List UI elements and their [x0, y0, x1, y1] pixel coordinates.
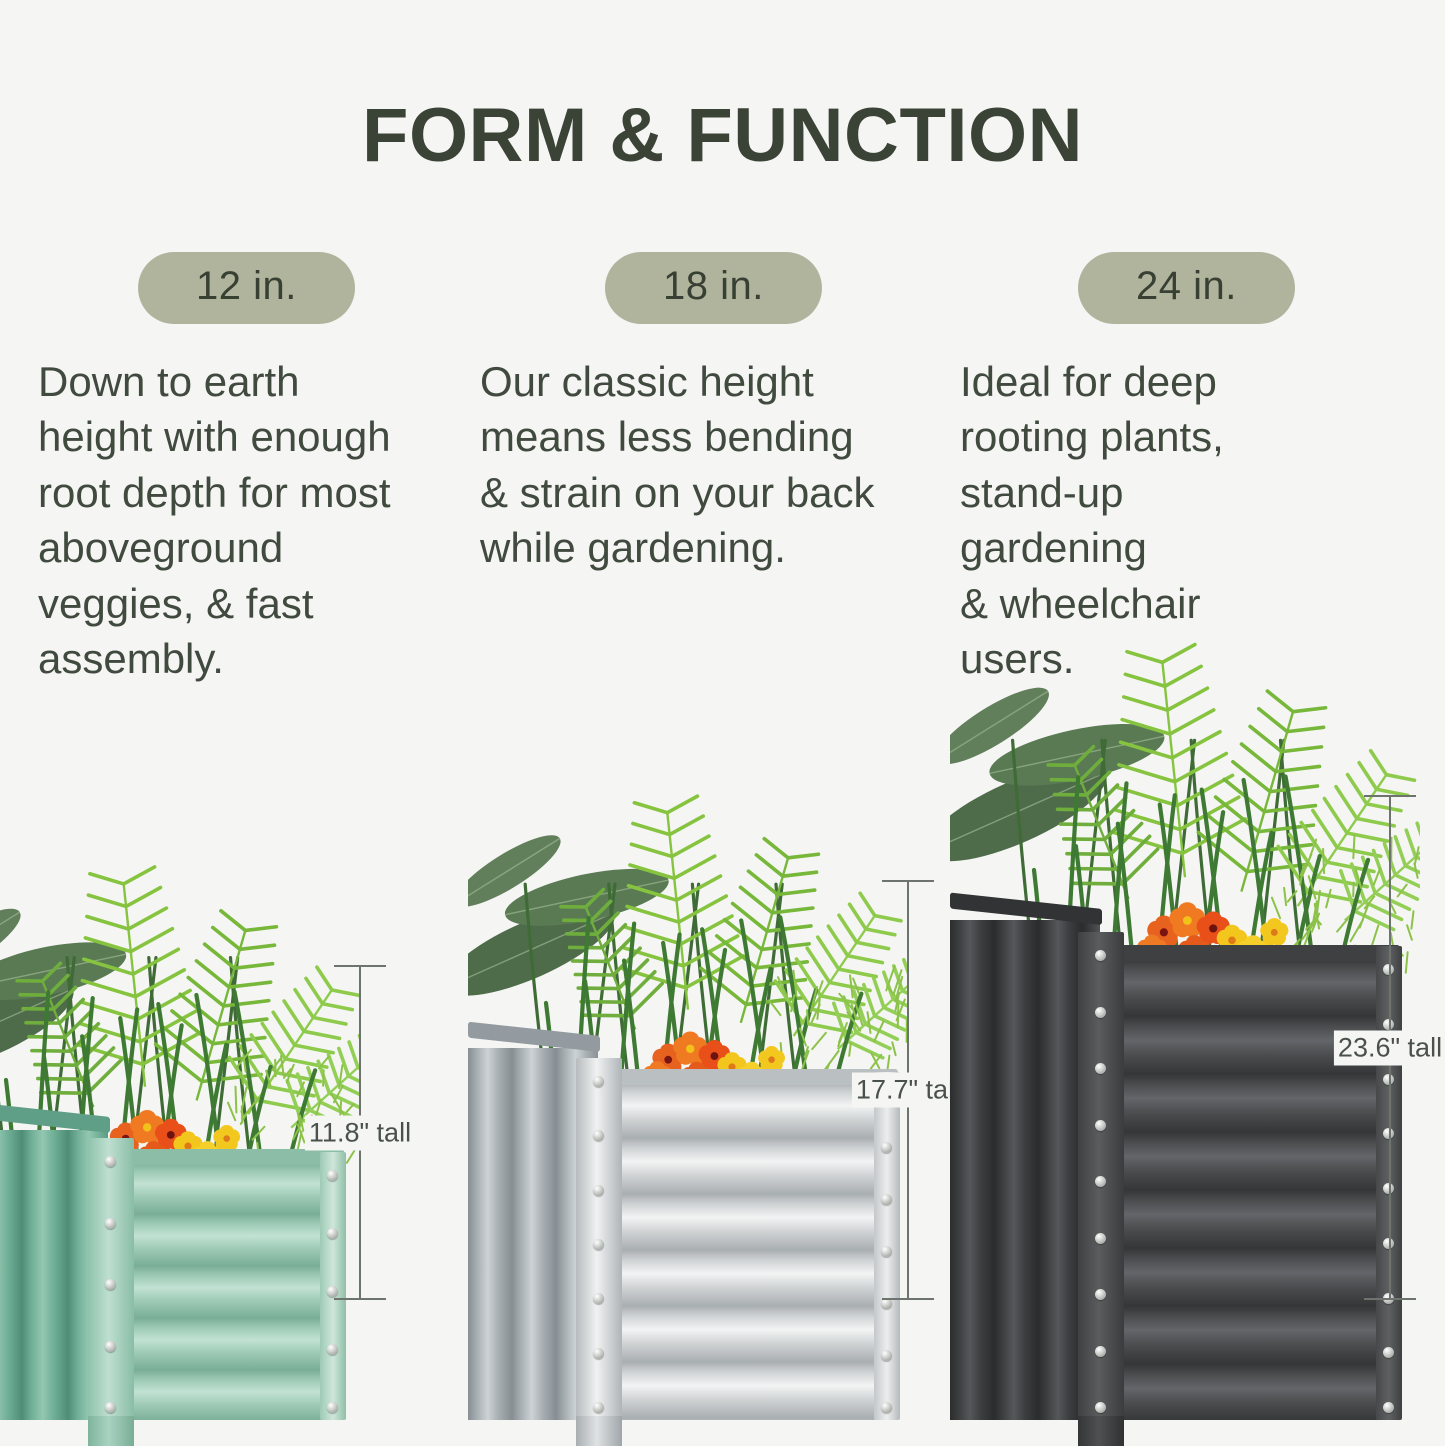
- dimension-annotation-23in: 23.6" tall: [1330, 795, 1445, 1300]
- planter-green-corner-post: [88, 1138, 134, 1420]
- screw-icon: [1095, 1176, 1106, 1187]
- screw-icon: [105, 1156, 116, 1167]
- badge-wrap-18in: 18 in.: [480, 252, 910, 324]
- screw-icon: [1095, 1346, 1106, 1357]
- screw-icon: [1095, 1233, 1106, 1244]
- planter-silver-leg: [576, 1416, 622, 1446]
- dimension-label-17in: 17.7" tall: [852, 1073, 964, 1108]
- screw-icon: [881, 1350, 892, 1361]
- product-photo-scene: 11.8" tall 17.7" tall: [0, 690, 1445, 1445]
- dimension-annotation-11in: 11.8" tall: [300, 965, 420, 1300]
- screw-icon: [1095, 1007, 1106, 1018]
- planter-dark-leg: [1078, 1416, 1124, 1446]
- dimension-label-11in: 11.8" tall: [305, 1115, 415, 1150]
- screw-icon: [327, 1344, 338, 1355]
- planter-green-top-rail-side: [0, 1097, 110, 1133]
- screw-icon: [327, 1402, 338, 1413]
- feature-column-18in: 18 in. Our classic height means less ben…: [480, 252, 910, 576]
- screw-icon: [593, 1348, 604, 1359]
- screw-icon: [593, 1293, 604, 1304]
- screw-icon: [881, 1402, 892, 1413]
- planter-green-leg: [88, 1416, 134, 1446]
- screw-icon: [1095, 950, 1106, 961]
- screw-icon: [1095, 1120, 1106, 1131]
- screw-icon: [105, 1341, 116, 1352]
- feature-column-24in: 24 in. Ideal for deep rooting plants, st…: [960, 252, 1390, 687]
- height-badge-18in: 18 in.: [605, 252, 822, 324]
- feature-column-12in: 12 in. Down to earth height with enough …: [38, 252, 468, 687]
- dimension-label-23in: 23.6" tall: [1334, 1030, 1445, 1065]
- badge-wrap-24in: 24 in.: [960, 252, 1390, 324]
- screw-icon: [1383, 1402, 1394, 1413]
- planter-dark-corner-post: [1078, 932, 1124, 1420]
- screw-icon: [105, 1218, 116, 1229]
- feature-text-12in: Down to earth height with enough root de…: [38, 354, 468, 687]
- screw-icon: [1095, 1402, 1106, 1413]
- screw-icon: [1383, 1347, 1394, 1358]
- badge-wrap-12in: 12 in.: [38, 252, 468, 324]
- screw-icon: [593, 1402, 604, 1413]
- screw-icon: [593, 1130, 604, 1141]
- feature-text-18in: Our classic height means less bending & …: [480, 354, 910, 576]
- screw-icon: [105, 1279, 116, 1290]
- screw-icon: [1095, 1289, 1106, 1300]
- feature-text-24in: Ideal for deep rooting plants, stand-up …: [960, 354, 1390, 687]
- screw-icon: [593, 1185, 604, 1196]
- screw-icon: [1095, 1063, 1106, 1074]
- height-badge-24in: 24 in.: [1078, 252, 1295, 324]
- screw-icon: [105, 1402, 116, 1413]
- screw-icon: [593, 1076, 604, 1087]
- page-title: FORM & FUNCTION: [0, 92, 1445, 179]
- planter-silver-corner-post: [576, 1058, 622, 1420]
- screw-icon: [593, 1239, 604, 1250]
- height-badge-12in: 12 in.: [138, 252, 355, 324]
- feature-columns: 12 in. Down to earth height with enough …: [0, 252, 1445, 682]
